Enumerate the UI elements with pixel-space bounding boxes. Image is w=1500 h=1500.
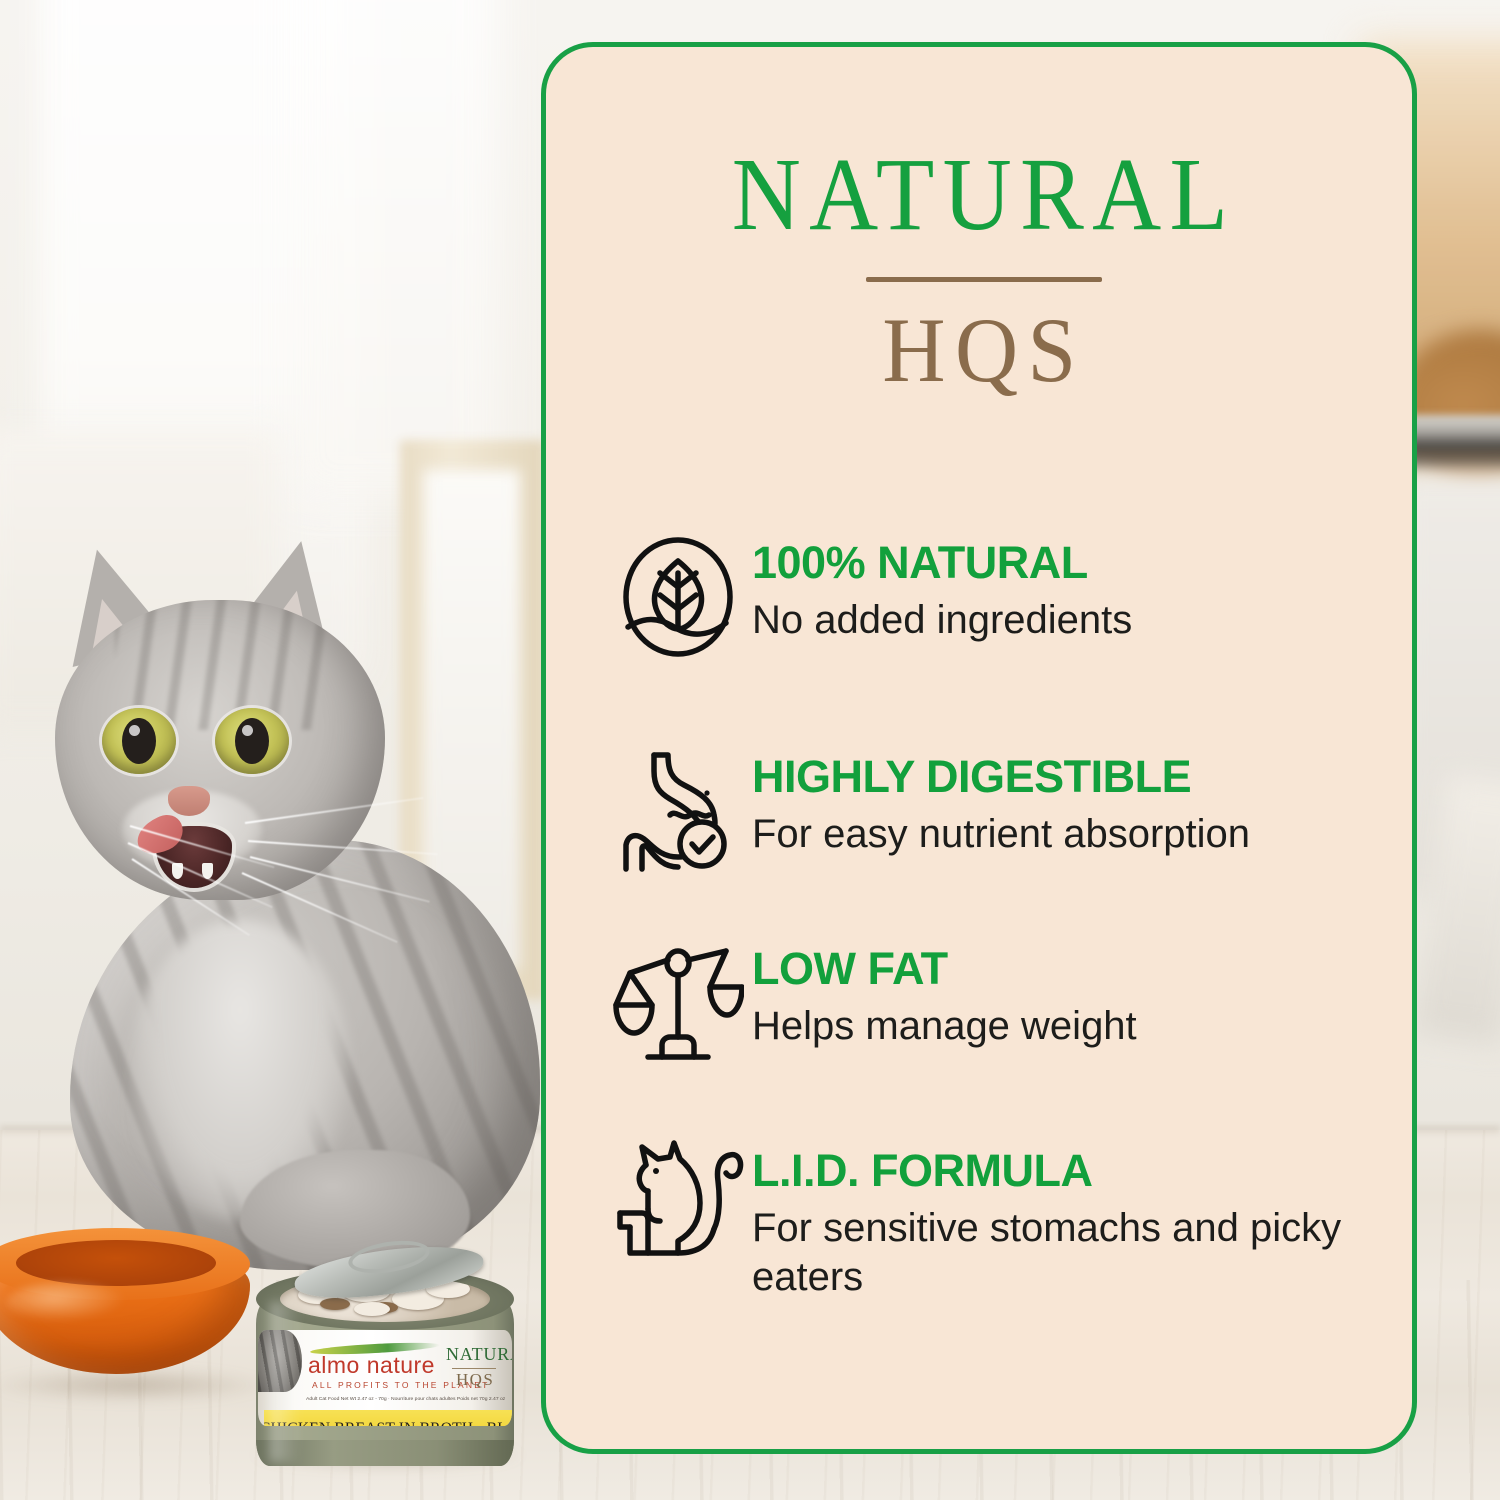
- feature-text: L.I.D. FORMULA For sensitive stomachs an…: [752, 1135, 1370, 1302]
- can-brand-name: almo nature: [308, 1352, 435, 1379]
- sitting-cat-icon: [604, 1135, 752, 1275]
- can-label-divider: [452, 1368, 496, 1369]
- feature-title: L.I.D. FORMULA: [752, 1147, 1370, 1194]
- feature-text: LOW FAT Helps manage weight: [752, 933, 1370, 1051]
- stomach-check-icon: [604, 741, 752, 881]
- can-highlight: [270, 1302, 300, 1462]
- cat-photo: [10, 590, 570, 1290]
- feature-description: No added ingredients: [752, 596, 1370, 645]
- feature-item: LOW FAT Helps manage weight: [546, 933, 1422, 1073]
- feature-description: Helps manage weight: [752, 1002, 1370, 1051]
- cat-food-bowl: [0, 1228, 250, 1388]
- can-line-name: NATURAL: [446, 1344, 512, 1365]
- leaf-in-circle-icon: [604, 527, 752, 667]
- chicken-piece: [320, 1298, 350, 1310]
- cat-eye-right: [215, 708, 289, 774]
- feature-title: 100% NATURAL: [752, 539, 1370, 586]
- feature-description: For sensitive stomachs and picky eaters: [752, 1204, 1370, 1302]
- can-line-sub: HQS: [456, 1370, 494, 1390]
- feature-description: For easy nutrient absorption: [752, 810, 1370, 859]
- bowl-interior: [16, 1240, 216, 1286]
- feature-item: L.I.D. FORMULA For sensitive stomachs an…: [546, 1135, 1422, 1302]
- can-flavor-text: CHICKEN BREAST IN BROTH · BLANC DE POULE…: [264, 1420, 512, 1426]
- feature-list: 100% NATURAL No added ingredients: [546, 519, 1422, 1302]
- cat-pupil-left: [122, 718, 156, 764]
- chicken-piece: [354, 1302, 390, 1316]
- feature-text: 100% NATURAL No added ingredients: [752, 527, 1370, 645]
- brand-subtitle: HQS: [568, 304, 1400, 396]
- can-fine-print: Adult Cat Food Net Wt 2.47 oz - 70g · No…: [306, 1396, 505, 1402]
- can-flavor-band: CHICKEN BREAST IN BROTH · BLANC DE POULE…: [264, 1410, 512, 1426]
- window-light-secondary: [290, 0, 500, 500]
- feature-item: 100% NATURAL No added ingredients: [546, 527, 1422, 667]
- brand-title: NATURAL: [581, 143, 1387, 247]
- cat-pupil-right: [235, 718, 269, 764]
- feature-item: HIGHLY DIGESTIBLE For easy nutrient abso…: [546, 741, 1422, 881]
- feature-card: NATURAL HQS: [541, 42, 1417, 1454]
- product-feature-image: almo nature ALL PROFITS TO THE PLANET NA…: [0, 0, 1500, 1500]
- feature-text: HIGHLY DIGESTIBLE For easy nutrient abso…: [752, 741, 1370, 859]
- brand-divider: [866, 277, 1102, 282]
- product-can: almo nature ALL PROFITS TO THE PLANET NA…: [252, 1268, 520, 1468]
- balance-scale-icon: [604, 933, 752, 1073]
- feature-title: LOW FAT: [752, 945, 1370, 992]
- cat-eye-left: [102, 708, 176, 774]
- brand-lockup: NATURAL HQS: [546, 143, 1422, 396]
- feature-title: HIGHLY DIGESTIBLE: [752, 753, 1370, 800]
- bowl-highlight: [6, 1282, 126, 1322]
